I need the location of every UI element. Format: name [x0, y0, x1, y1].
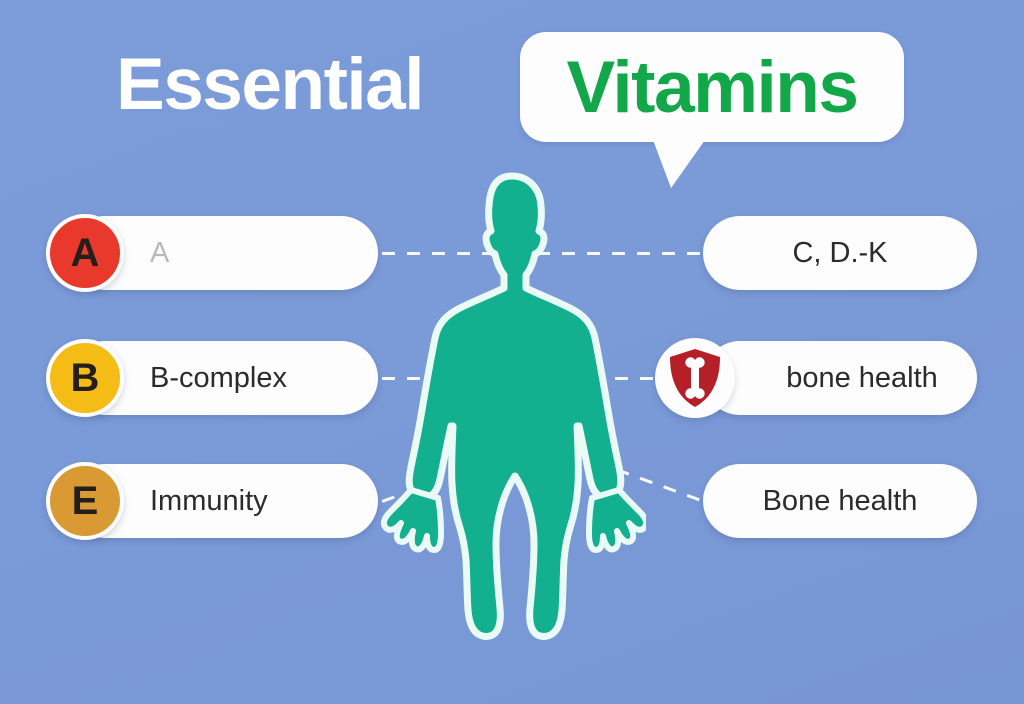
vitamin-b-badge-icon[interactable]: B	[46, 339, 124, 417]
callout-tail	[653, 140, 705, 188]
vitamin-e-badge-letter: E	[72, 479, 99, 524]
infographic-canvas: Essential Vitamins A A	[0, 0, 1024, 704]
vitamin-a-badge-letter: A	[71, 231, 100, 276]
vitamins-callout-bubble: Vitamins	[520, 32, 904, 142]
left-row-3: Immunity E	[46, 464, 378, 538]
vitamin-a-badge-icon[interactable]: A	[46, 214, 124, 292]
vitamin-b-badge-letter: B	[71, 356, 100, 401]
left-row-1: A A	[46, 216, 378, 290]
bone-health-label-2: Bone health	[763, 487, 918, 516]
left-row-2: B-complex B	[46, 341, 378, 415]
bone-health-pill[interactable]: bone health	[703, 341, 977, 415]
right-row-2: bone health	[655, 341, 977, 415]
bone-health-label: bone health	[786, 364, 938, 393]
vitamins-cdk-label: C, D.-K	[792, 239, 887, 268]
right-row-3: Bone health	[703, 464, 977, 538]
vitamin-a-label: A	[150, 239, 169, 268]
vitamin-b-label: B-complex	[150, 364, 287, 393]
page-title-primary: Essential	[116, 48, 423, 121]
vitamins-cdk-pill[interactable]: C, D.-K	[703, 216, 977, 290]
shield-bone-icon[interactable]	[655, 338, 735, 418]
vitamin-e-label: Immunity	[150, 487, 268, 516]
bone-health-pill-2[interactable]: Bone health	[703, 464, 977, 538]
vitamin-e-badge-icon[interactable]: E	[46, 462, 124, 540]
title-row: Essential Vitamins	[0, 22, 1024, 152]
right-row-1: C, D.-K	[703, 216, 977, 290]
page-title-highlight: Vitamins	[520, 32, 904, 142]
human-body-silhouette	[378, 172, 646, 652]
